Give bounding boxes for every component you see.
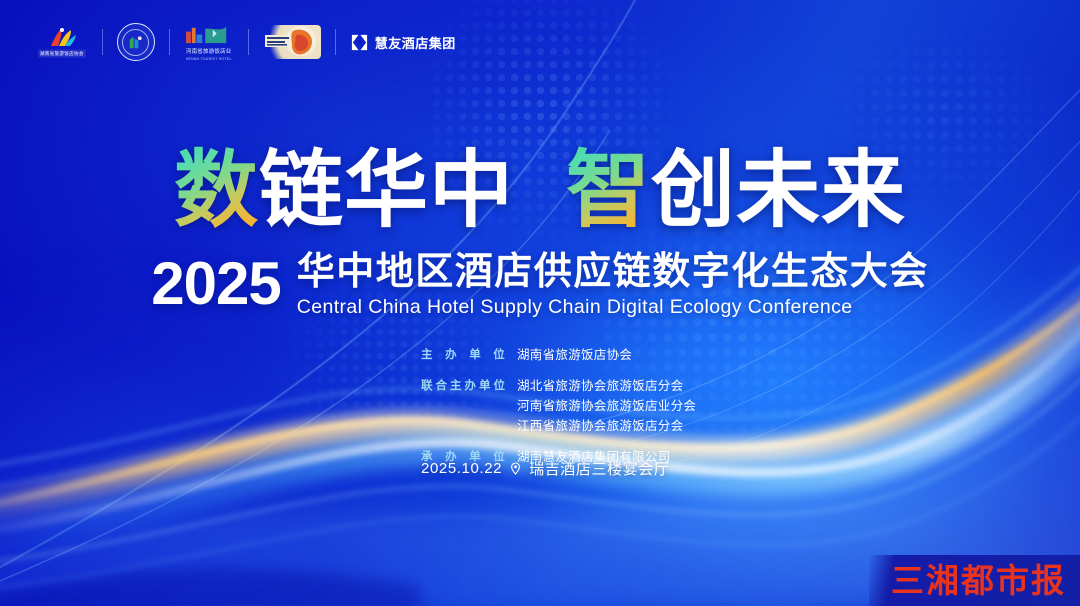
headline-part-shu: 数 xyxy=(174,143,259,237)
logo-hunan-tourism-hotel-assoc: 湖南省旅游饭店协会 xyxy=(22,22,102,62)
huiyou-hotel-group-name: 慧友酒店集团 xyxy=(375,33,456,52)
organizer-values: 湖北省旅游协会旅游饭店分会 河南省旅游协会旅游饭店业分会 江西省旅游协会旅游饭店… xyxy=(517,376,696,436)
organizer-label: 主办单位 xyxy=(421,345,505,365)
logo-huiyou-hotel-group: 慧友酒店集团 xyxy=(336,22,470,62)
organizer-block: 主办单位 湖南省旅游饭店协会 联合主办单位 湖北省旅游协会旅游饭店分会 河南省旅… xyxy=(421,345,696,467)
location-pin-icon xyxy=(509,462,522,475)
organizer-value: 湖北省旅游协会旅游饭店分会 xyxy=(517,376,696,396)
hunan-assoc-name: 湖南省旅游饭店协会 xyxy=(38,49,86,57)
organizer-value: 湖南省旅游饭店协会 xyxy=(517,345,632,365)
conference-names: 华中地区酒店供应链数字化生态大会 Central China Hotel Sup… xyxy=(297,252,929,319)
event-date: 2025.10.22 xyxy=(421,460,502,477)
organizer-row: 联合主办单位 湖北省旅游协会旅游饭店分会 河南省旅游协会旅游饭店业分会 江西省旅… xyxy=(421,376,696,436)
conference-name-zh: 华中地区酒店供应链数字化生态大会 xyxy=(297,252,929,293)
headline-part-zhi: 智 xyxy=(566,143,651,237)
organizer-value: 江西省旅游协会旅游饭店分会 xyxy=(517,416,696,436)
main-headline: 数链华中智创未来 xyxy=(0,148,1080,232)
hunan-assoc-emblem-icon xyxy=(45,27,79,48)
hubei-assoc-emblem-icon xyxy=(117,23,155,61)
organizer-row: 主办单位 湖南省旅游饭店协会 xyxy=(421,345,696,365)
headline-part-lianhuazhong: 链华中 xyxy=(259,143,514,237)
media-partner-name: 三湘都市报 xyxy=(891,564,1066,597)
organizer-values: 湖南省旅游饭店协会 xyxy=(517,345,632,365)
organizer-value: 河南省旅游协会旅游饭店业分会 xyxy=(517,396,696,416)
media-partner-logo: 三湘都市报 xyxy=(869,555,1080,606)
event-venue: 瑞吉酒店三楼宴会厅 xyxy=(529,458,669,479)
henan-hotel-name: 河南省旅游饭店业 xyxy=(186,47,232,55)
jiangxi-hotel-emblem-icon xyxy=(263,25,321,59)
conference-poster: 湖南省旅游饭店协会 xyxy=(0,0,1080,606)
background-glow-left xyxy=(0,300,440,606)
conference-name-en: Central China Hotel Supply Chain Digital… xyxy=(297,295,853,319)
huiyou-diamond-icon xyxy=(350,33,369,52)
organizer-label: 联合主办单位 xyxy=(421,376,505,396)
logo-jiangxi-tourism-hotel xyxy=(249,22,335,62)
logo-henan-tourism-hotel: 河南省旅游饭店业 HENAN TOURIST HOTEL xyxy=(170,22,248,62)
logo-hubei-tourism-assoc xyxy=(103,22,169,62)
event-datetime-venue: 2025.10.22 瑞吉酒店三楼宴会厅 xyxy=(421,458,669,479)
henan-hotel-emblem-icon xyxy=(184,24,234,45)
conference-title-row: 2025 华中地区酒店供应链数字化生态大会 Central China Hote… xyxy=(0,252,1080,319)
henan-hotel-subname: HENAN TOURIST HOTEL xyxy=(186,57,232,61)
conference-year: 2025 xyxy=(151,255,280,312)
sponsor-logo-bar: 湖南省旅游饭店协会 xyxy=(22,22,470,62)
headline-part-chuangweilai: 创未来 xyxy=(651,143,906,237)
